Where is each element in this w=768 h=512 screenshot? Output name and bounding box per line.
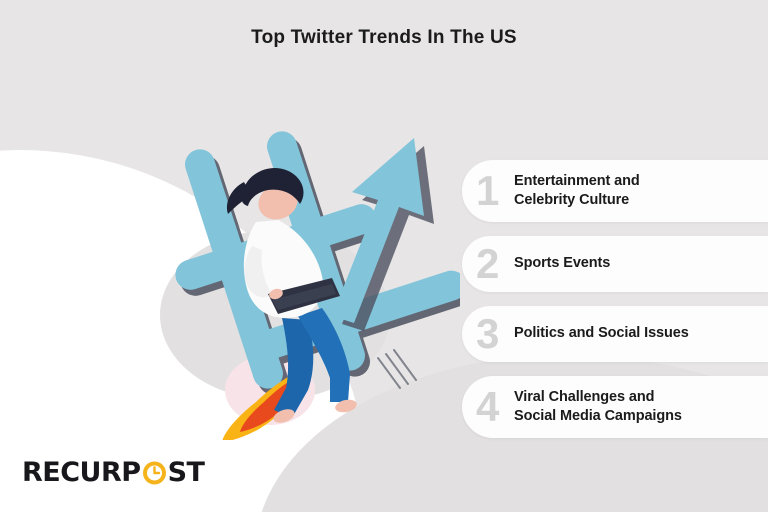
- list-item-label: Entertainment and Celebrity Culture: [514, 172, 762, 210]
- list-item[interactable]: 1 Entertainment and Celebrity Culture: [462, 160, 768, 222]
- list-item-label: Politics and Social Issues: [514, 324, 762, 343]
- list-item-label: Viral Challenges and Social Media Campai…: [514, 388, 762, 426]
- list-item-number: 4: [476, 386, 514, 428]
- hashtag-rocket-person-illustration: [160, 110, 460, 440]
- trend-list: 1 Entertainment and Celebrity Culture 2 …: [462, 160, 768, 452]
- list-item-number: 2: [476, 243, 514, 285]
- list-item[interactable]: 4 Viral Challenges and Social Media Camp…: [462, 376, 768, 438]
- logo-text-before: RECURP: [22, 457, 141, 488]
- infographic-poster: Top Twitter Trends In The US: [0, 0, 768, 512]
- list-item[interactable]: 3 Politics and Social Issues: [462, 306, 768, 362]
- recurpost-logo[interactable]: RECURP ST: [22, 457, 204, 488]
- list-item-number: 1: [476, 170, 514, 212]
- clock-icon: [142, 460, 167, 485]
- page-title: Top Twitter Trends In The US: [0, 27, 768, 49]
- motion-lines: [378, 350, 416, 388]
- logo-text-after: ST: [168, 457, 205, 488]
- list-item-number: 3: [476, 313, 514, 355]
- list-item[interactable]: 2 Sports Events: [462, 236, 768, 292]
- list-item-label: Sports Events: [514, 254, 762, 273]
